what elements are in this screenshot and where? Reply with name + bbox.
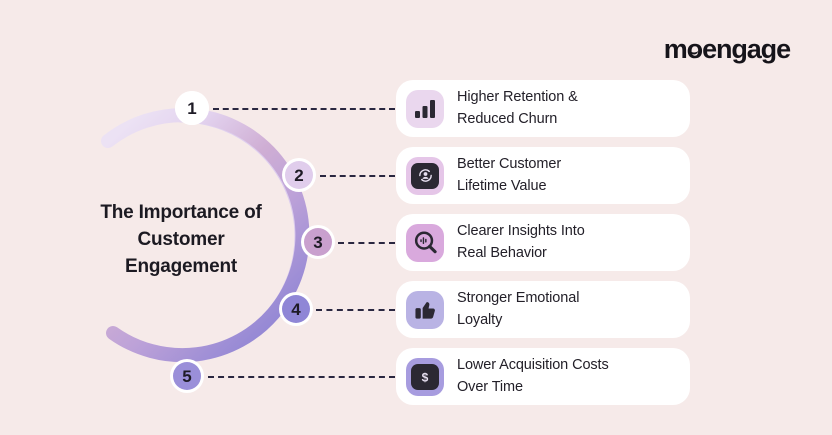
step-number-3: 3 <box>313 234 322 251</box>
benefit-card-2-line-2: Lifetime Value <box>457 176 561 198</box>
connector-line-5 <box>208 376 395 378</box>
benefit-card-1-text: Higher Retention & Reduced Churn <box>457 87 578 131</box>
connector-line-3 <box>338 242 395 244</box>
benefit-card-1[interactable]: Higher Retention & Reduced Churn <box>396 80 690 137</box>
svg-text:$: $ <box>422 370 429 384</box>
step-number-4: 4 <box>291 301 300 318</box>
benefit-card-5-line-1: Lower Acquisition Costs <box>457 355 609 377</box>
dollar-icon-inner: $ <box>411 364 439 390</box>
step-number-1: 1 <box>187 100 196 117</box>
benefit-card-4-line-2: Loyalty <box>457 310 579 332</box>
connector-line-4 <box>316 309 395 311</box>
search-insights-icon <box>406 224 444 262</box>
benefit-card-5-line-2: Over Time <box>457 377 609 399</box>
benefit-card-2[interactable]: Better Customer Lifetime Value <box>396 147 690 204</box>
step-number-5: 5 <box>182 368 191 385</box>
logo-o-mark: o <box>687 36 702 63</box>
step-marker-1[interactable]: 1 <box>175 91 209 125</box>
logo-text-after: engage <box>702 36 790 63</box>
step-marker-5[interactable]: 5 <box>170 359 204 393</box>
customer-lifetime-icon <box>406 157 444 195</box>
benefit-card-3-line-2: Real Behavior <box>457 243 585 265</box>
infographic-canvas: moengage <box>0 0 832 435</box>
center-heading-line-2: Customer <box>62 227 300 254</box>
benefit-card-2-text: Better Customer Lifetime Value <box>457 154 561 198</box>
customer-lifetime-icon-inner <box>411 163 439 189</box>
benefit-card-2-line-1: Better Customer <box>457 154 561 176</box>
dollar-icon: $ <box>406 358 444 396</box>
benefit-card-3-text: Clearer Insights Into Real Behavior <box>457 221 585 265</box>
step-marker-2[interactable]: 2 <box>282 158 316 192</box>
center-heading: The Importance of Customer Engagement <box>62 200 300 281</box>
benefit-card-1-line-2: Reduced Churn <box>457 109 578 131</box>
benefit-card-1-line-1: Higher Retention & <box>457 87 578 109</box>
benefit-card-4[interactable]: Stronger Emotional Loyalty <box>396 281 690 338</box>
benefit-card-5[interactable]: $ Lower Acquisition Costs Over Time <box>396 348 690 405</box>
moengage-logo: moengage <box>664 36 790 63</box>
center-heading-line-3: Engagement <box>62 254 300 281</box>
thumbs-up-icon <box>406 291 444 329</box>
logo-text-before: m <box>664 36 687 63</box>
connector-line-2 <box>320 175 395 177</box>
benefit-card-3-line-1: Clearer Insights Into <box>457 221 585 243</box>
connector-line-1 <box>213 108 395 110</box>
benefit-card-5-text: Lower Acquisition Costs Over Time <box>457 355 609 399</box>
step-marker-3[interactable]: 3 <box>301 225 335 259</box>
benefit-card-3[interactable]: Clearer Insights Into Real Behavior <box>396 214 690 271</box>
bar-chart-icon <box>406 90 444 128</box>
step-number-2: 2 <box>294 167 303 184</box>
step-marker-4[interactable]: 4 <box>279 292 313 326</box>
benefit-card-4-text: Stronger Emotional Loyalty <box>457 288 579 332</box>
center-heading-line-1: The Importance of <box>62 200 300 227</box>
benefit-card-4-line-1: Stronger Emotional <box>457 288 579 310</box>
